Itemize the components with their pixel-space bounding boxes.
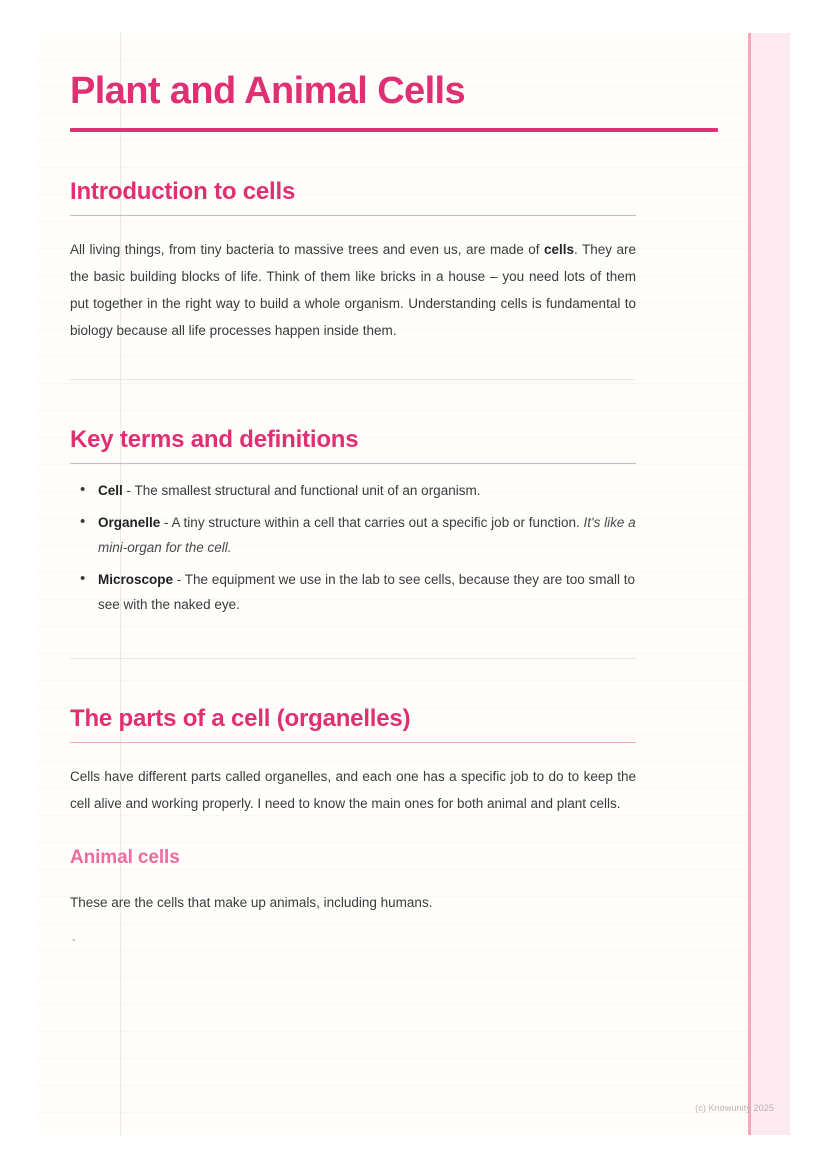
term-separator: - — [173, 572, 185, 587]
stray-backtick-character: ` — [70, 916, 636, 952]
key-terms-list: Cell - The smallest structural and funct… — [70, 464, 636, 617]
term-separator: - — [160, 515, 171, 530]
document-content: Plant and Animal Cells Introduction to c… — [70, 33, 636, 952]
intro-paragraph: All living things, from tiny bacteria to… — [70, 216, 636, 344]
document-page: Plant and Animal Cells Introduction to c… — [38, 33, 790, 1135]
subsection-heading-animal-cells: Animal cells — [70, 817, 636, 869]
section-heading-parts-of-a-cell: The parts of a cell (organelles) — [70, 659, 636, 733]
divider-wrap-2 — [70, 624, 636, 659]
list-item: Organelle - A tiny structure within a ce… — [96, 510, 636, 560]
list-item: Microscope - The equipment we use in the… — [96, 567, 636, 617]
parts-of-a-cell-paragraph: Cells have different parts called organe… — [70, 743, 636, 817]
intro-paragraph-pre: All living things, from tiny bacteria to… — [70, 242, 544, 257]
term-name: Cell — [98, 483, 123, 498]
list-item: Cell - The smallest structural and funct… — [96, 478, 636, 503]
divider-wrap-1 — [70, 344, 636, 380]
term-definition: The smallest structural and functional u… — [135, 483, 481, 498]
animal-cells-paragraph: These are the cells that make up animals… — [70, 869, 636, 916]
term-definition: A tiny structure within a cell that carr… — [172, 515, 584, 530]
intro-paragraph-bold-term: cells — [544, 242, 574, 257]
term-name: Microscope — [98, 572, 173, 587]
page-title: Plant and Animal Cells — [70, 33, 636, 112]
footer-credit: (c) Knowunity 2025 — [695, 1103, 774, 1113]
term-separator: - — [123, 483, 135, 498]
term-name: Organelle — [98, 515, 160, 530]
right-margin-pink-band — [751, 33, 790, 1135]
section-heading-introduction: Introduction to cells — [70, 132, 636, 206]
section-heading-key-terms: Key terms and definitions — [70, 380, 636, 454]
